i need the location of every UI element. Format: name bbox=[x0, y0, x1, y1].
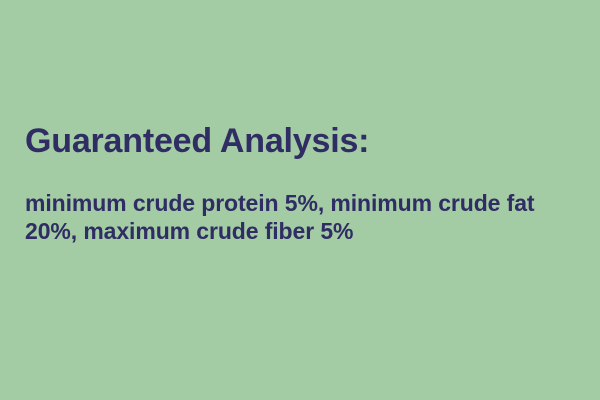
guaranteed-analysis-text: minimum crude protein 5%, minimum crude … bbox=[25, 189, 573, 245]
analysis-content: Guaranteed Analysis: minimum crude prote… bbox=[25, 120, 577, 245]
page-title: Guaranteed Analysis: bbox=[25, 120, 577, 162]
guaranteed-analysis-card: Guaranteed Analysis: minimum crude prote… bbox=[0, 0, 600, 400]
